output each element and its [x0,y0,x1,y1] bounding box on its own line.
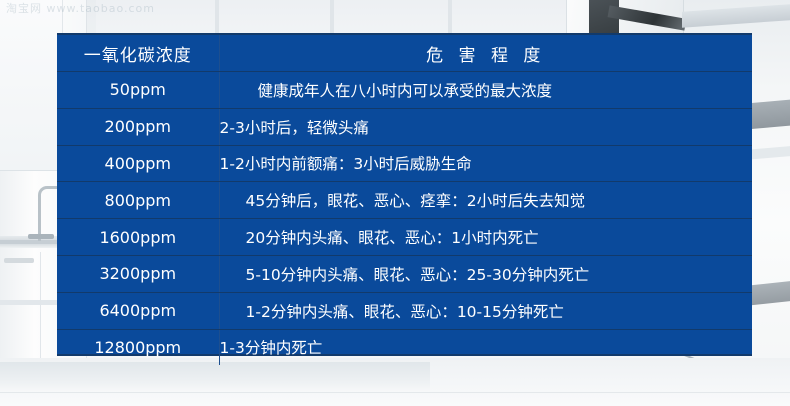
bg-upper-cabinet [0,0,63,171]
watermark-text: 淘宝网 www.taobao.com [6,0,155,16]
cell-concentration: 800ppm [57,182,219,219]
cell-concentration: 200ppm [57,108,219,145]
cell-concentration: 12800ppm [57,329,219,365]
bg-faucet [38,186,59,241]
table-body: 50ppm 健康成年人在八小时内可以承受的最大浓度 200ppm 2-3小时后，… [57,72,752,366]
cell-harm: 1-2分钟内头痛、眼花、恶心：10-15分钟死亡 [219,292,752,329]
table-row: 1600ppm 20分钟内头痛、眼花、恶心：1小时内死亡 [57,219,752,256]
bg-floor-strip [0,362,430,392]
cell-harm: 1-3分钟内死亡 [219,329,752,365]
table-row: 200ppm 2-3小时后，轻微头痛 [57,108,752,145]
cell-harm: 2-3小时后，轻微头痛 [219,108,752,145]
cell-concentration: 6400ppm [57,292,219,329]
table-row: 800ppm 45分钟后，眼花、恶心、痉挛：2小时后失去知觉 [57,182,752,219]
cell-harm: 5-10分钟内头痛、眼花、恶心：25-30分钟内死亡 [219,255,752,292]
bg-faucet-base [28,234,54,239]
cell-concentration: 50ppm [57,72,219,109]
cell-harm: 健康成年人在八小时内可以承受的最大浓度 [219,72,752,109]
co-concentration-table: 一氧化碳浓度 危 害 程 度 50ppm 健康成年人在八小时内可以承受的最大浓度… [57,33,752,356]
table-header-row: 一氧化碳浓度 危 害 程 度 [57,35,752,72]
cell-harm: 45分钟后，眼花、恶心、痉挛：2小时后失去知觉 [219,182,752,219]
cell-concentration: 3200ppm [57,255,219,292]
header-concentration: 一氧化碳浓度 [57,35,219,72]
table-row: 400ppm 1-2小时内前额痛：3小时后威胁生命 [57,145,752,182]
table-row: 3200ppm 5-10分钟内头痛、眼花、恶心：25-30分钟内死亡 [57,255,752,292]
screenshot-stage: 淘宝网 www.taobao.com 一氧化碳浓度 危 害 程 度 50ppm … [0,0,790,406]
bg-drawer-handle [4,258,34,263]
bg-floor-line [0,392,790,393]
bg-shelf-top [682,4,790,28]
header-harm-level: 危 害 程 度 [219,35,752,72]
cell-harm: 1-2小时内前额痛：3小时后威胁生命 [219,145,752,182]
cell-concentration: 1600ppm [57,219,219,256]
cell-harm: 20分钟内头痛、眼花、恶心：1小时内死亡 [219,219,752,256]
table-row: 6400ppm 1-2分钟内头痛、眼花、恶心：10-15分钟死亡 [57,292,752,329]
cell-concentration: 400ppm [57,145,219,182]
table-row: 50ppm 健康成年人在八小时内可以承受的最大浓度 [57,72,752,109]
table-row: 12800ppm 1-3分钟内死亡 [57,329,752,365]
